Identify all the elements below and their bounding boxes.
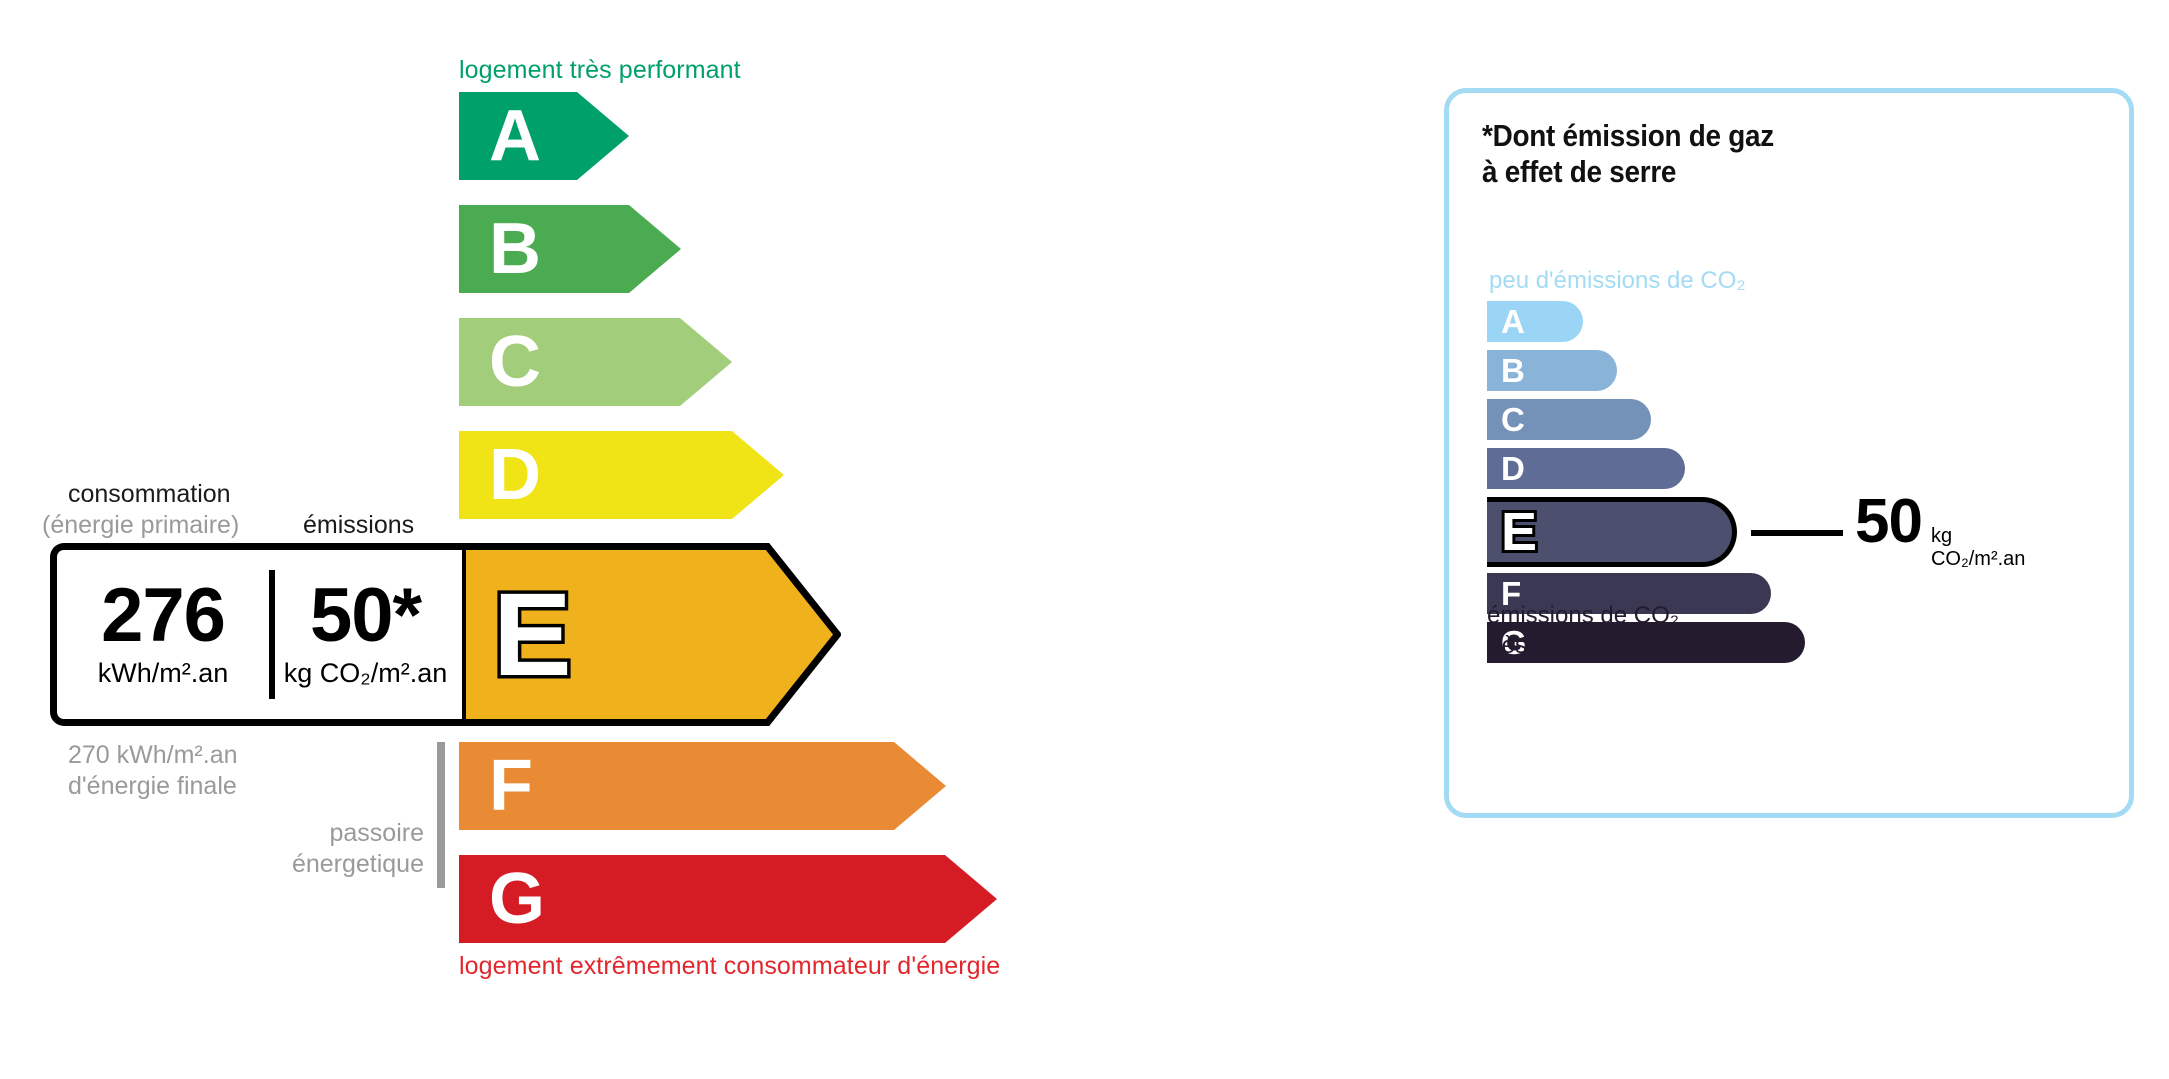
- emissions-label: émissions: [303, 511, 414, 540]
- co2-class-letter-c: C: [1501, 403, 1525, 436]
- passoire-energetique-label: passoire énergetique: [0, 818, 424, 879]
- energy-performance-scale: logement très performant logement extrêm…: [0, 0, 1300, 1079]
- energy-value: 276: [101, 580, 225, 653]
- arrow-label-wrap-d: D: [459, 431, 784, 519]
- value-box: 276 kWh/m².an 50* kg CO₂/m².an: [50, 543, 462, 726]
- scale-caption-top: logement très performant: [459, 56, 741, 85]
- co2-bar-a: A: [1487, 301, 1583, 342]
- energy-class-arrow-g: G: [459, 855, 997, 943]
- energy-class-letter-d: D: [489, 439, 541, 511]
- co2-caption-bottom: émissions de CO₂ très importantes: [1487, 601, 1679, 661]
- co2-emissions-panel: *Dont émission de gaz à effet de serre p…: [1444, 88, 2134, 818]
- consumption-sublabel: (énergie primaire): [42, 511, 239, 540]
- co2-bar-e: E: [1487, 497, 1737, 567]
- co2-bar-c: C: [1487, 399, 1651, 440]
- co2-callout-unit: kg CO₂/m².an: [1931, 525, 2025, 571]
- energy-class-letter-c: C: [489, 326, 541, 398]
- final-energy-label: 270 kWh/m².an d'énergie finale: [68, 740, 238, 801]
- energy-class-letter-f: F: [489, 750, 533, 822]
- energy-class-arrow-a: A: [459, 92, 629, 180]
- arrow-label-wrap-c: C: [459, 318, 732, 406]
- energy-class-arrow-d: D: [459, 431, 784, 519]
- energy-class-letter-b: B: [489, 213, 541, 285]
- consumption-label: consommation: [68, 480, 231, 509]
- co2-bar-b: B: [1487, 350, 1617, 391]
- energy-class-arrow-c: C: [459, 318, 732, 406]
- passoire-indicator-bar: [437, 742, 445, 888]
- arrow-label-wrap-e: E: [459, 543, 841, 726]
- arrow-label-wrap-a: A: [459, 92, 629, 180]
- energy-class-arrow-f: F: [459, 742, 946, 830]
- co2-class-letter-d: D: [1501, 452, 1525, 485]
- arrow-label-wrap-f: F: [459, 742, 946, 830]
- co2-bar-d: D: [1487, 448, 1685, 489]
- co2-panel-title: *Dont émission de gaz à effet de serre: [1482, 118, 1774, 190]
- co2-value-cell: 50* kg CO₂/m².an: [269, 550, 462, 719]
- co2-caption-top: peu d'émissions de CO₂: [1489, 267, 1746, 295]
- energy-unit: kWh/m².an: [98, 658, 229, 689]
- co2-class-letter-b: B: [1501, 354, 1525, 387]
- co2-value: 50*: [310, 580, 421, 653]
- co2-callout-value: 50kg CO₂/m².an: [1855, 491, 2025, 571]
- energy-value-cell: 276 kWh/m².an: [57, 550, 269, 719]
- value-divider: [269, 570, 275, 699]
- co2-unit: kg CO₂/m².an: [284, 658, 448, 689]
- co2-callout-number: 50: [1855, 491, 1922, 553]
- scale-caption-bottom: logement extrêmement consommateur d'éner…: [459, 952, 1000, 981]
- arrow-label-wrap-g: G: [459, 855, 997, 943]
- energy-class-letter-g: G: [489, 863, 545, 935]
- energy-class-letter-e: E: [493, 576, 572, 694]
- energy-class-letter-a: A: [489, 100, 541, 172]
- co2-class-letter-a: A: [1501, 305, 1525, 338]
- arrow-label-wrap-b: B: [459, 205, 681, 293]
- energy-class-arrow-e: E: [459, 543, 841, 726]
- energy-class-arrow-b: B: [459, 205, 681, 293]
- co2-class-letter-e: E: [1501, 505, 1537, 559]
- co2-callout-leader-line: [1751, 530, 1843, 536]
